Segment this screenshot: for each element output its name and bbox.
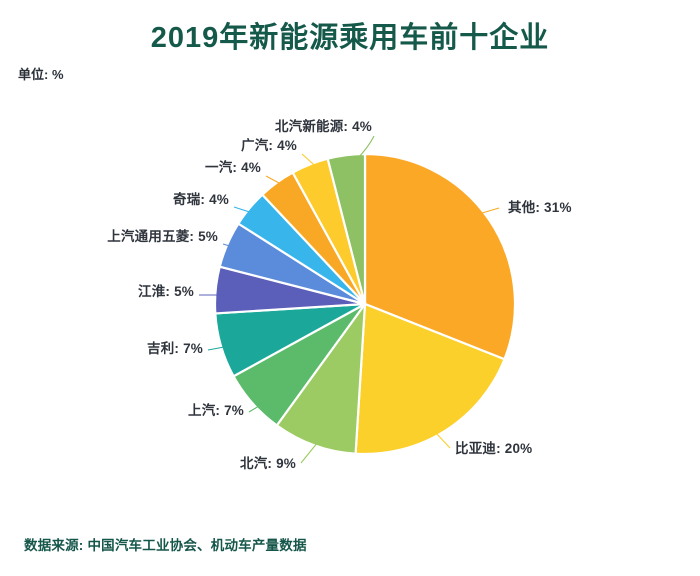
- pie-slice-label: 一汽: 4%: [205, 159, 261, 175]
- pie-slice-label: 其他: 31%: [508, 199, 572, 215]
- pie-slice-label: 江淮: 5%: [138, 283, 194, 299]
- pie-slice-label: 广汽: 4%: [241, 137, 297, 153]
- data-source-note: 数据来源: 中国汽车工业协会、机动车产量数据: [24, 534, 307, 554]
- pie-chart-svg: 其他: 31%比亚迪: 20%北汽: 9%上汽: 7%吉利: 7%江淮: 5%上…: [0, 0, 700, 576]
- pie-slice-label: 奇瑞: 4%: [173, 191, 229, 207]
- pie-slices-group: [215, 154, 515, 454]
- leader-line: [301, 442, 318, 463]
- pie-slice-label: 上汽通用五菱: 5%: [107, 228, 218, 244]
- pie-slice-label: 北汽新能源: 4%: [275, 118, 372, 134]
- pie-slice-label: 吉利: 7%: [147, 340, 203, 356]
- pie-slice-label: 上汽: 7%: [188, 402, 244, 418]
- leader-line: [435, 432, 450, 448]
- pie-chart-figure: 2019年新能源乘用车前十企业 单位: % 其他: 31%比亚迪: 20%北汽:…: [0, 0, 700, 576]
- pie-slice-label: 比亚迪: 20%: [455, 440, 532, 456]
- pie-slice-label: 北汽: 9%: [240, 455, 296, 471]
